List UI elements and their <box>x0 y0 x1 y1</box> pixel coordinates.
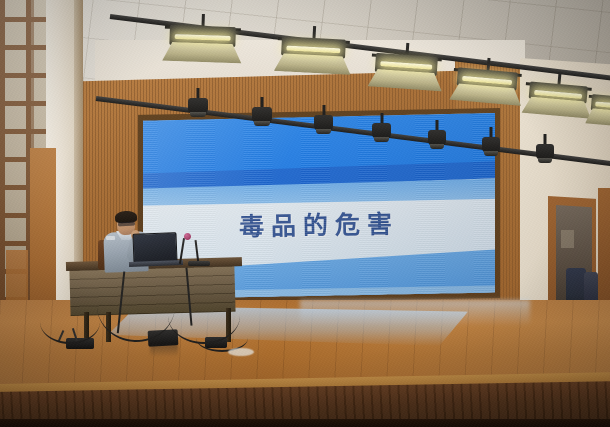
spot-light-icon <box>428 120 446 148</box>
wall-picture-icon <box>561 230 574 248</box>
spot-light-icon <box>188 88 208 118</box>
flood-light-icon <box>280 36 346 72</box>
flood-light-icon <box>527 81 587 116</box>
uniform-shoulder-board <box>106 236 115 240</box>
floor-tape-marker <box>228 348 254 356</box>
spot-light-icon <box>252 97 272 127</box>
flood-light-icon <box>169 25 236 61</box>
stage-base-shadow <box>0 419 610 427</box>
second-doorway-frame <box>598 188 610 318</box>
laptop-screen <box>132 232 177 264</box>
microphone-head-icon <box>184 233 191 240</box>
spot-light-icon <box>314 105 333 134</box>
auditorium-photo: 毒品的危害 <box>0 0 610 427</box>
spot-light-icon <box>536 134 554 161</box>
spot-light-icon <box>372 113 391 142</box>
flood-light-icon <box>455 67 517 103</box>
spot-light-icon <box>482 127 500 155</box>
microphone-base <box>188 261 210 266</box>
flood-light-icon <box>374 53 438 89</box>
equipment-reflection <box>150 345 178 357</box>
flood-light-icon <box>590 94 610 126</box>
